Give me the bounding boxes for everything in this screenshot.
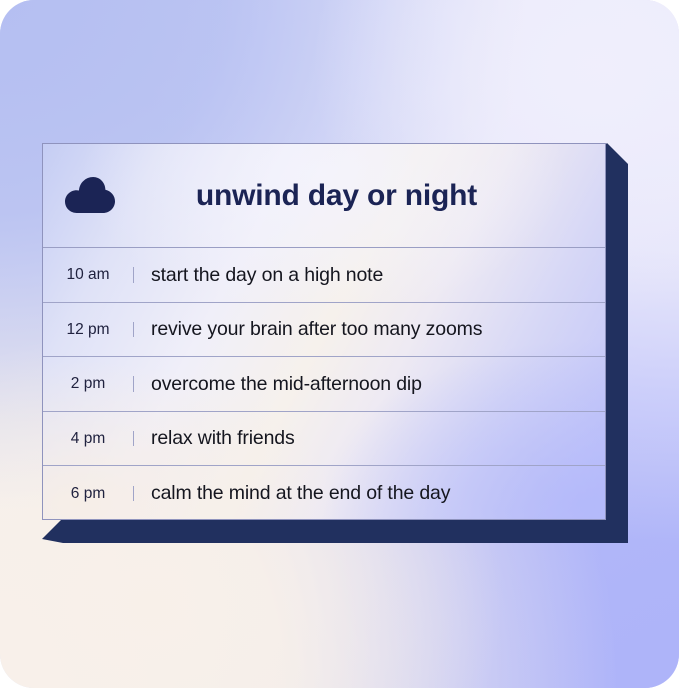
poster-canvas: unwind day or night 10 am start the day …	[0, 0, 679, 688]
row-time: 12 pm	[43, 322, 134, 338]
row-time: 2 pm	[43, 376, 134, 392]
cloud-icon	[43, 175, 134, 217]
table-row: 10 am start the day on a high note	[43, 248, 605, 303]
row-time: 10 am	[43, 267, 134, 283]
row-time: 4 pm	[43, 431, 134, 447]
row-activity: revive your brain after too many zooms	[134, 318, 605, 340]
card-title: unwind day or night	[134, 181, 605, 211]
row-activity: start the day on a high note	[134, 264, 605, 286]
row-activity: relax with friends	[134, 427, 605, 449]
row-activity: calm the mind at the end of the day	[134, 482, 605, 504]
row-time: 6 pm	[43, 486, 134, 502]
card-header: unwind day or night	[43, 144, 605, 248]
table-row: 6 pm calm the mind at the end of the day	[43, 466, 605, 520]
schedule-card-group: unwind day or night 10 am start the day …	[42, 143, 628, 543]
table-row: 4 pm relax with friends	[43, 412, 605, 467]
row-activity: overcome the mid-afternoon dip	[134, 373, 605, 395]
schedule-card: unwind day or night 10 am start the day …	[42, 143, 606, 520]
table-row: 2 pm overcome the mid-afternoon dip	[43, 357, 605, 412]
table-row: 12 pm revive your brain after too many z…	[43, 303, 605, 358]
schedule-rows: 10 am start the day on a high note 12 pm…	[43, 248, 605, 520]
